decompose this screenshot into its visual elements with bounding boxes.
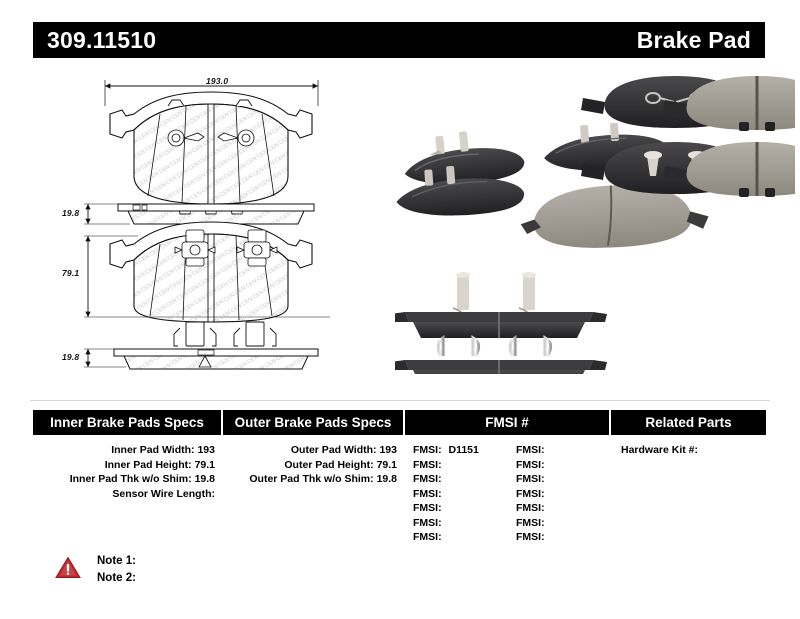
section-divider <box>30 400 770 401</box>
spec-label: Outer Pad Height: <box>284 459 373 471</box>
fmsi-subcolumn-right: FMSI: FMSI: FMSI: FMSI: FMSI: <box>508 443 611 545</box>
spec-value: 19.8 <box>195 473 215 485</box>
spec-row: Inner Pad Thk w/o Shim: 19.8 <box>33 472 223 487</box>
column-header-related-parts: Related Parts <box>611 410 766 435</box>
fmsi-row: FMSI: <box>405 487 508 502</box>
fmsi-label: FMSI: <box>413 444 442 456</box>
specs-table-body: Inner Pad Width: 193 Inner Pad Height: 7… <box>33 435 766 545</box>
fmsi-column: FMSI: D1151 FMSI: FMSI: FMSI: FMSI: <box>405 443 611 545</box>
title-bar: 309.11510 Brake Pad <box>33 22 765 58</box>
fmsi-row: FMSI: <box>405 530 508 545</box>
fmsi-row: FMSI: <box>508 458 611 473</box>
column-header-inner-specs: Inner Brake Pads Specs <box>33 410 223 435</box>
spec-value: 79.1 <box>377 459 397 471</box>
specs-table-header: Inner Brake Pads Specs Outer Brake Pads … <box>33 410 766 435</box>
spec-value: 19.8 <box>377 473 397 485</box>
fmsi-label: FMSI: <box>516 502 545 514</box>
warning-icon <box>55 556 81 579</box>
fmsi-row: FMSI: <box>405 516 508 531</box>
fmsi-row: FMSI: <box>405 458 508 473</box>
fmsi-value <box>442 517 446 529</box>
spec-label: Inner Pad Height: <box>105 459 192 471</box>
fmsi-label: FMSI: <box>516 517 545 529</box>
spec-label: Inner Pad Thk w/o Shim: <box>70 473 192 485</box>
note-2: Note 2: <box>97 570 136 587</box>
notes-section: Note 1: Note 2: <box>55 553 136 587</box>
fmsi-row: FMSI: D1151 <box>405 443 508 458</box>
fmsi-value <box>545 459 549 471</box>
note-lines: Note 1: Note 2: <box>97 553 136 587</box>
related-part-label: Hardware Kit #: <box>621 444 698 456</box>
product-photos <box>0 64 800 374</box>
fmsi-row: FMSI: <box>405 501 508 516</box>
spec-row: Outer Pad Thk w/o Shim: 19.8 <box>223 472 405 487</box>
spec-row: Inner Pad Width: 193 <box>33 443 223 458</box>
fmsi-row: FMSI: <box>508 443 611 458</box>
fmsi-value <box>545 488 549 500</box>
fmsi-value <box>442 502 446 514</box>
fmsi-value: D1151 <box>445 444 479 456</box>
fmsi-value <box>442 459 446 471</box>
column-header-outer-specs: Outer Brake Pads Specs <box>223 410 405 435</box>
fmsi-row: FMSI: <box>508 501 611 516</box>
part-number: 309.11510 <box>47 27 156 54</box>
column-header-fmsi: FMSI # <box>405 410 611 435</box>
fmsi-value <box>545 531 549 543</box>
fmsi-label: FMSI: <box>413 459 442 471</box>
photo-hardware-clips <box>438 338 550 356</box>
spec-label: Outer Pad Width: <box>291 444 377 456</box>
spec-row: Outer Pad Width: 193 <box>223 443 405 458</box>
note-1: Note 1: <box>97 553 136 570</box>
fmsi-row: FMSI: <box>405 472 508 487</box>
spec-label: Inner Pad Width: <box>111 444 194 456</box>
fmsi-label: FMSI: <box>516 459 545 471</box>
fmsi-row: FMSI: <box>508 472 611 487</box>
fmsi-subcolumn-left: FMSI: D1151 FMSI: FMSI: FMSI: FMSI: <box>405 443 508 545</box>
fmsi-label: FMSI: <box>516 531 545 543</box>
fmsi-value <box>442 488 446 500</box>
fmsi-label: FMSI: <box>516 444 545 456</box>
photo-group <box>395 64 795 374</box>
fmsi-row: FMSI: <box>508 516 611 531</box>
specs-table: Inner Brake Pads Specs Outer Brake Pads … <box>33 410 766 545</box>
fmsi-label: FMSI: <box>413 473 442 485</box>
fmsi-label: FMSI: <box>516 488 545 500</box>
fmsi-value <box>545 444 549 456</box>
spec-value: 79.1 <box>195 459 215 471</box>
spec-row: Outer Pad Height: 79.1 <box>223 458 405 473</box>
product-name: Brake Pad <box>637 27 751 54</box>
fmsi-value <box>442 531 446 543</box>
related-part-row: Hardware Kit #: <box>611 443 766 458</box>
fmsi-label: FMSI: <box>413 488 442 500</box>
spec-value: 193 <box>379 444 397 456</box>
fmsi-label: FMSI: <box>413 502 442 514</box>
fmsi-value <box>545 502 549 514</box>
spec-label: Sensor Wire Length: <box>112 488 215 500</box>
spec-label: Outer Pad Thk w/o Shim: <box>249 473 373 485</box>
spec-row: Inner Pad Height: 79.1 <box>33 458 223 473</box>
related-parts-column: Hardware Kit #: <box>611 443 766 545</box>
inner-specs-column: Inner Pad Width: 193 Inner Pad Height: 7… <box>33 443 223 545</box>
outer-specs-column: Outer Pad Width: 193 Outer Pad Height: 7… <box>223 443 405 545</box>
fmsi-label: FMSI: <box>413 517 442 529</box>
spec-row: Sensor Wire Length: <box>33 487 223 502</box>
fmsi-value <box>545 473 549 485</box>
fmsi-label: FMSI: <box>516 473 545 485</box>
fmsi-row: FMSI: <box>508 487 611 502</box>
fmsi-value <box>442 473 446 485</box>
fmsi-label: FMSI: <box>413 531 442 543</box>
fmsi-row: FMSI: <box>508 530 611 545</box>
spec-value: 193 <box>197 444 215 456</box>
photo-edge-pads-clips <box>395 272 607 374</box>
fmsi-value <box>545 517 549 529</box>
